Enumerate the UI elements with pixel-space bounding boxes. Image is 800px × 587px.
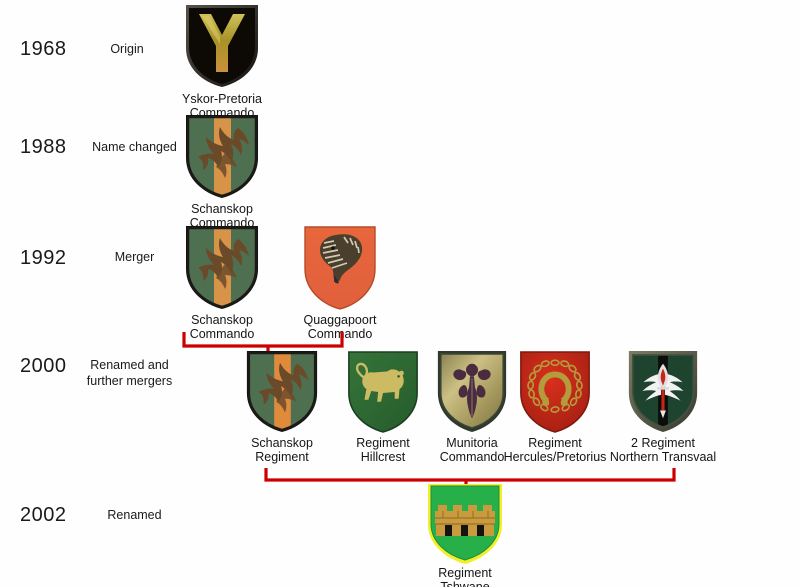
caption-quaggapoort-commando: Quaggapoort Commando [290,313,390,342]
node-regiment-tshwane[interactable]: Regiment Tshwane [415,484,515,587]
caption-regiment-tshwane: Regiment Tshwane [415,566,515,587]
caption-regiment-hillcrest: Regiment Hillcrest [333,436,433,465]
event-label-2000: Renamed and further mergers [62,358,197,389]
node-regiment-hillcrest[interactable]: Regiment Hillcrest [333,348,433,465]
node-schanskop-regiment[interactable]: Schanskop Regiment [232,348,332,465]
shield-regiment-hercules-pretorius [503,348,607,434]
year-label-1968: 1968 [20,38,67,61]
caption-regiment-hercules-pretorius: Regiment Hercules/Pretorius [503,436,607,465]
node-schanskop-commando-1988[interactable]: Schanskop Commando [172,112,272,231]
shield-schanskop-commando-1992 [172,223,272,311]
node-yskor-pretoria-commando[interactable]: Yskor-Pretoria Commando [172,2,272,121]
caption-2-regiment-northern-transvaal: 2 Regiment Northern Transvaal [608,436,718,465]
shield-yskor-pretoria-commando [172,2,272,90]
caption-schanskop-commando-1992: Schanskop Commando [172,313,272,342]
lineage-diagram: 1968 Origin 1988 Name changed 1992 Merge… [0,0,800,587]
shield-2-regiment-northern-transvaal [608,348,718,434]
year-label-1988: 1988 [20,136,67,159]
shield-schanskop-commando-1988 [172,112,272,200]
node-quaggapoort-commando[interactable]: Quaggapoort Commando [290,223,390,342]
year-label-2000: 2000 [20,355,67,378]
event-label-2002: Renamed [72,508,197,524]
shield-regiment-hillcrest [333,348,433,434]
caption-schanskop-regiment: Schanskop Regiment [232,436,332,465]
node-regiment-hercules-pretorius[interactable]: Regiment Hercules/Pretorius [503,348,607,465]
event-label-1968: Origin [72,42,182,58]
shield-quaggapoort-commando [290,223,390,311]
node-2-regiment-northern-transvaal[interactable]: 2 Regiment Northern Transvaal [608,348,718,465]
shield-regiment-tshwane [415,484,515,564]
node-schanskop-commando-1992[interactable]: Schanskop Commando [172,223,272,342]
year-label-2002: 2002 [20,504,67,527]
shield-schanskop-regiment [232,348,332,434]
year-label-1992: 1992 [20,247,67,270]
